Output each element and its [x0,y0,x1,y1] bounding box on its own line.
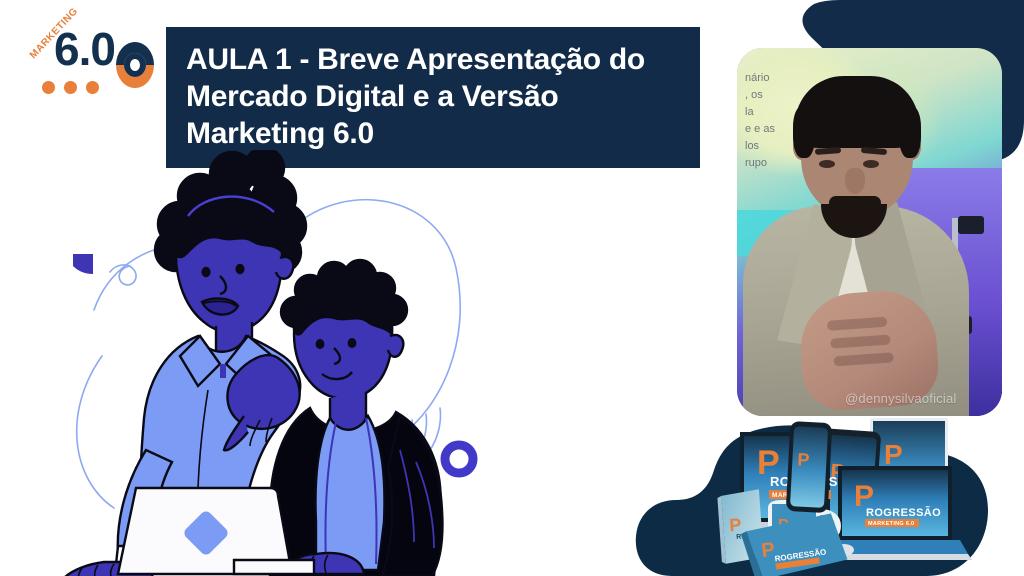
slide-canvas: MARKETING 6.0 AULA 1 - Breve Apresentaçã… [0,0,1024,576]
speaker-photo: nário , os la e e as los rupo [737,48,1002,416]
logo-dots-icon [42,81,99,94]
photo-tripod-head [958,216,984,234]
lesson-title-line-2: Mercado Digital e a Versão [186,78,680,115]
product-mockup-area: P P P ROGRESSÃO MARKETING 6.0 [632,418,1024,576]
svg-text:MARKETING 6.0: MARKETING 6.0 [868,521,914,527]
svg-text:P: P [884,439,903,470]
speaker-hair-side-left [793,106,815,158]
svg-text:P: P [729,515,742,536]
photo-watermark: @dennysilvaoficial [845,391,956,406]
brand-logo: MARKETING 6.0 [28,18,178,108]
lesson-title-bar: AULA 1 - Breve Apresentação do Mercado D… [166,27,700,168]
logo-circle-mark-icon [116,42,154,88]
speaker-hair-side-right [899,106,921,158]
people-laptop-illustration [48,150,498,576]
lesson-title-line-1: AULA 1 - Breve Apresentação do [186,41,680,78]
svg-text:P: P [797,449,810,470]
svg-text:ROGRESSÃO: ROGRESSÃO [866,506,941,519]
speaker-eye-left [819,160,835,168]
logo-version-text: 6.0 [54,26,115,72]
speaker-nose [845,168,865,194]
lesson-title-line-3: Marketing 6.0 [186,115,680,152]
speaker-eye-right [863,160,879,168]
